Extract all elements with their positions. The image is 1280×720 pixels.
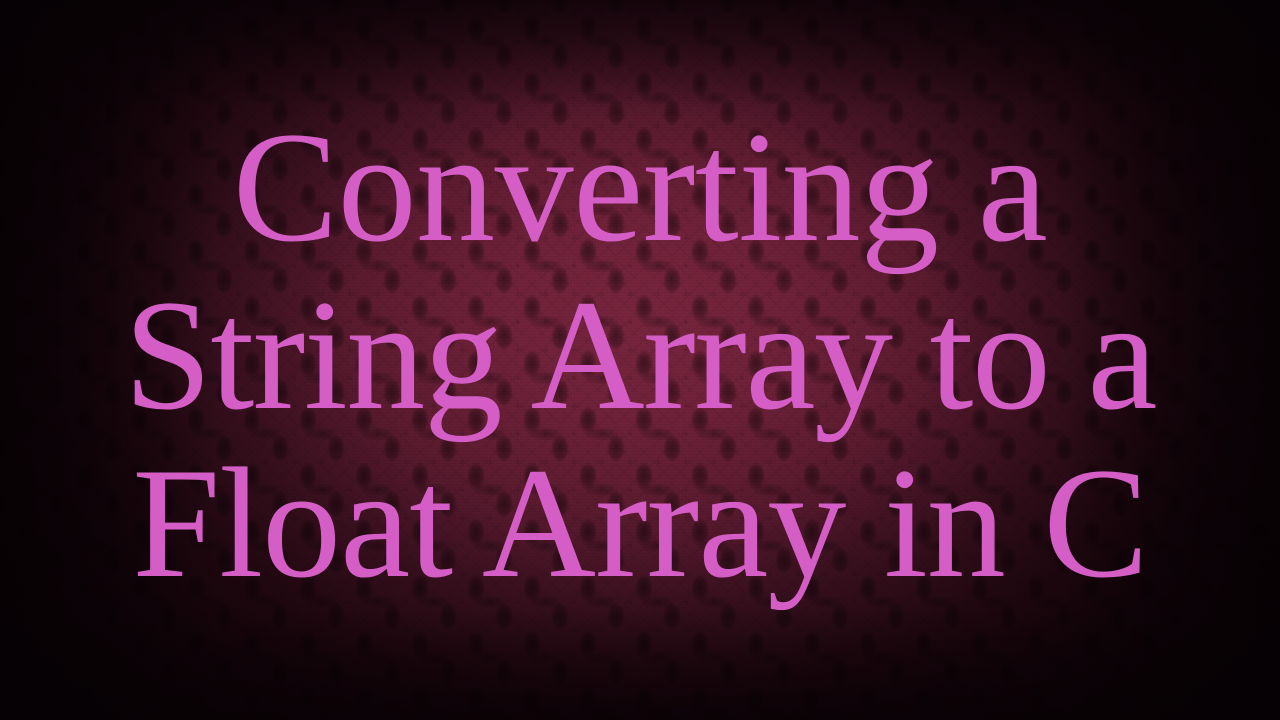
title-line-2: String Array to a <box>16 272 1264 440</box>
title-line-3: Float Array in C <box>16 440 1264 608</box>
title-block: Converting a String Array to a Float Arr… <box>0 104 1280 608</box>
title-card: Converting a String Array to a Float Arr… <box>0 0 1280 720</box>
title-line-1: Converting a <box>16 104 1264 272</box>
